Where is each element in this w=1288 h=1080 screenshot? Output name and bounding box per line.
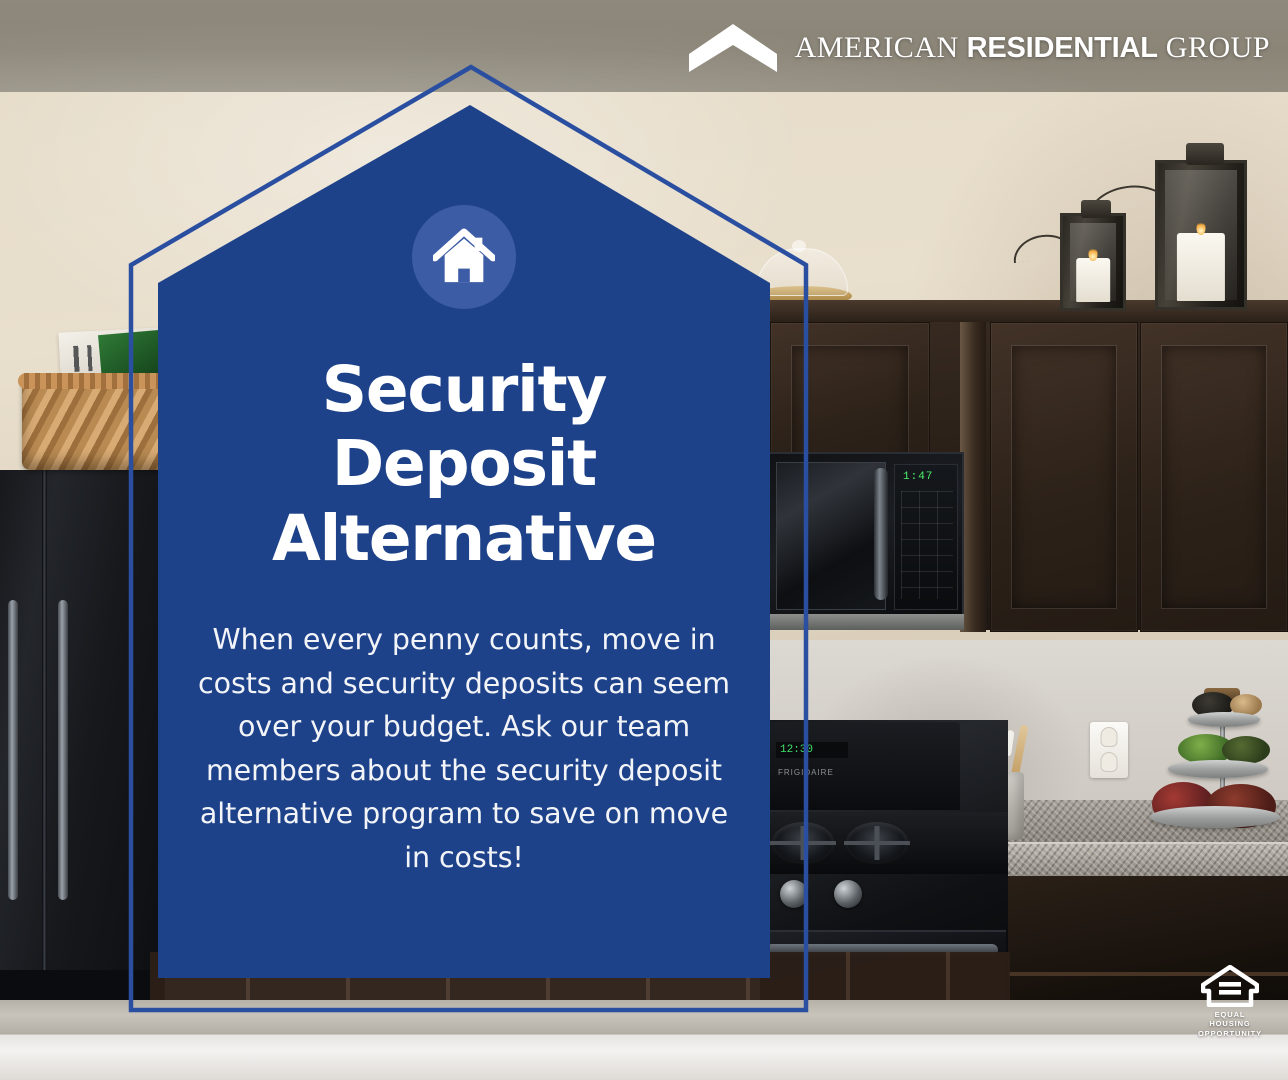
equal-housing-badge: EQUAL HOUSING OPPORTUNITY — [1194, 965, 1266, 1038]
lantern-large — [1155, 160, 1247, 310]
lantern-small-candle — [1076, 258, 1110, 302]
wall-outlet — [1090, 722, 1128, 778]
brand-wordmark: AMERICAN RESIDENTIAL GROUP — [795, 31, 1270, 65]
range-backguard — [760, 722, 960, 810]
brand-name-group: GROUP — [1166, 31, 1270, 64]
house-icon-badge — [412, 205, 516, 309]
promo-card: Security Deposit Alternative When every … — [158, 105, 770, 980]
lantern-large-cap — [1186, 143, 1224, 165]
lantern-small-flame — [1089, 247, 1098, 261]
range-clock-display: 12:30 — [776, 742, 848, 758]
poster-root: 1:47 Just Beat It — [0, 0, 1288, 1080]
microwave: 1:47 — [768, 452, 964, 620]
window-sill-lower — [0, 1034, 1288, 1080]
granite-countertop — [1000, 842, 1288, 876]
cake-dome-knob — [792, 240, 806, 252]
refrigerator-seam — [42, 470, 47, 1030]
page-title: Security Deposit Alternative — [192, 353, 736, 576]
burner-grate-1 — [770, 826, 836, 860]
microwave-handle — [874, 468, 888, 600]
lantern-small-cap — [1081, 200, 1111, 218]
lantern-large-candle — [1177, 233, 1225, 301]
chevron-roof-icon — [689, 22, 777, 74]
range-knob-row — [770, 880, 1000, 910]
refrigerator — [0, 470, 165, 1030]
cabinet-door-c — [1140, 322, 1288, 632]
tiered-tray-bottom — [1150, 806, 1280, 828]
headline-line-3: Alternative — [192, 502, 736, 576]
range-knob-1 — [780, 880, 808, 908]
microwave-vent — [768, 614, 964, 630]
tiered-tray-top — [1188, 712, 1260, 727]
refrigerator-handle-left — [8, 600, 18, 900]
range-knob-2 — [834, 880, 862, 908]
window-sill-upper — [0, 1000, 1288, 1034]
basket-rim — [18, 373, 176, 389]
brand-logo[interactable]: AMERICAN RESIDENTIAL GROUP — [689, 22, 1270, 74]
eho-label-line1: EQUAL HOUSING — [1194, 1010, 1266, 1029]
refrigerator-handle-right — [58, 600, 68, 900]
body-copy: When every penny counts, move in costs a… — [192, 618, 736, 880]
eho-label-line2: OPPORTUNITY — [1194, 1029, 1266, 1038]
brand-name-residential: RESIDENTIAL — [967, 32, 1158, 64]
microwave-keypad — [901, 491, 953, 599]
wicker-basket — [22, 380, 172, 470]
headline-line-1: Security — [192, 353, 736, 427]
microwave-control-panel: 1:47 — [894, 464, 958, 610]
house-icon — [433, 228, 495, 286]
equal-housing-icon — [1201, 965, 1259, 1007]
lantern-large-flame — [1197, 221, 1206, 235]
cabinet-door-b — [990, 322, 1138, 632]
tiered-tray-middle — [1168, 760, 1268, 778]
headline-line-2: Deposit — [192, 427, 736, 501]
microwave-door — [776, 462, 886, 610]
burner-grate-2 — [844, 826, 910, 860]
brand-name-american: AMERICAN — [795, 31, 959, 64]
range-brand-label: FRIGIDAIRE — [778, 768, 834, 777]
lantern-small — [1060, 213, 1126, 311]
microwave-clock-display: 1:47 — [903, 471, 949, 484]
